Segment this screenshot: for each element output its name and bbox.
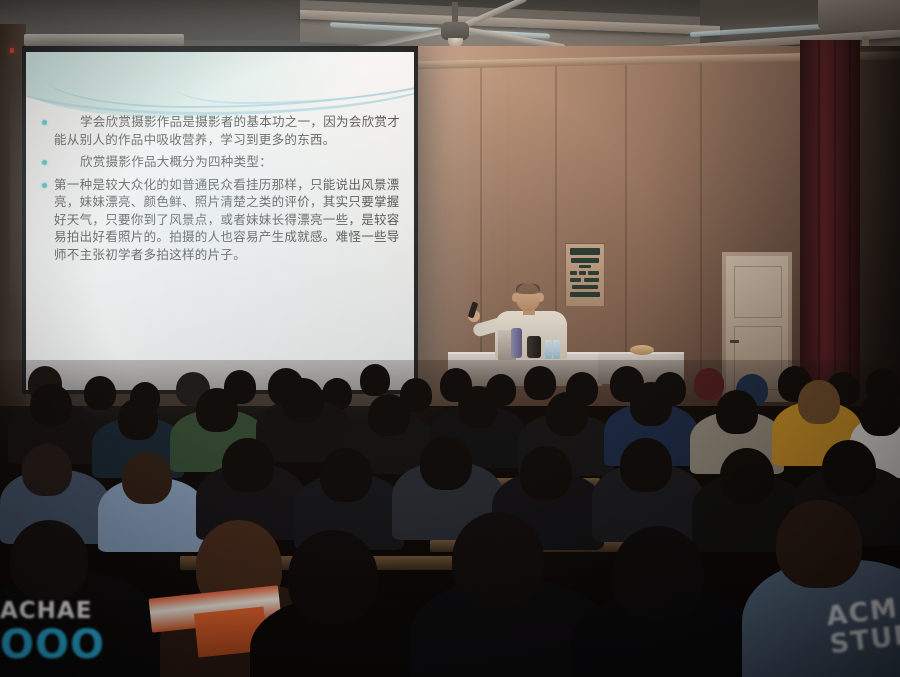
slide-bullet-text: 欣赏摄影作品大概分为四种类型： [54, 154, 272, 172]
audience-head [546, 392, 588, 436]
audience-head [716, 390, 758, 434]
curtain-fold [818, 40, 820, 400]
bullet-dot-icon [42, 183, 47, 188]
water-bottle-icon [553, 340, 560, 359]
window-curtain [800, 40, 860, 400]
audience-head [720, 448, 774, 504]
thermos-icon [511, 328, 522, 358]
audience-head [860, 392, 900, 436]
slide-bullet-text: 第一种是较大众化的如普通民众看挂历那样，只能说出风景漂亮，妹妹漂亮、颜色鲜、照片… [54, 177, 406, 265]
curtain-fold [834, 40, 836, 400]
presenter-hair [516, 283, 540, 294]
audience-head [620, 438, 672, 492]
tshirt-line-2: OOO [0, 625, 105, 665]
slide-content: 学会欣赏摄影作品是摄影者的基本功之一，因为会欣赏才能从别人的作品中吸收营养，学习… [40, 114, 406, 269]
tshirt-graphic-text: ACHAE OOO [0, 600, 105, 665]
audience-head [360, 364, 390, 396]
audience-head [458, 386, 498, 428]
audience-head [822, 440, 876, 496]
door-handle-icon[interactable] [730, 340, 739, 343]
audience-head [524, 366, 556, 400]
jacket-back-text: ACM STUD [825, 593, 900, 660]
audience-head [520, 446, 572, 500]
audience-head-front [776, 500, 862, 588]
projection-screen: 学会欣赏摄影作品是摄影者的基本功之一，因为会欣赏才能从别人的作品中吸收营养，学习… [26, 52, 414, 390]
slide-bullet-text: 学会欣赏摄影作品是摄影者的基本功之一，因为会欣赏才能从别人的作品中吸收营养，学习… [54, 114, 406, 149]
curtain-fold [849, 40, 851, 400]
bullet-dot-icon [42, 160, 47, 165]
audience-head [118, 398, 158, 440]
projector-screen-case [24, 34, 184, 46]
audience-head-red-cap [694, 368, 724, 400]
audience-head [196, 388, 238, 432]
audience-head [84, 376, 116, 410]
wall-seam [625, 60, 627, 390]
water-bottle-icon [545, 340, 552, 359]
ceiling-duct [818, 0, 900, 30]
audience-head [320, 448, 372, 502]
audience-head [282, 378, 324, 422]
notice-board [565, 243, 605, 307]
audience-head [630, 382, 672, 426]
slide-bullet-row: 学会欣赏摄影作品是摄影者的基本功之一，因为会欣赏才能从别人的作品中吸收营养，学习… [40, 114, 406, 149]
audience-head-front [10, 520, 88, 600]
audience-head-front [288, 530, 378, 624]
audience-head [30, 384, 72, 426]
audience-head [368, 394, 410, 436]
audience-head [122, 452, 172, 504]
ceiling-fan-rod [452, 2, 458, 24]
wall-seam [480, 60, 482, 390]
slide-bullet-row: 欣赏摄影作品大概分为四种类型： [40, 154, 406, 172]
indicator-led [10, 48, 14, 53]
tshirt-line-1: ACHAE [0, 600, 105, 623]
bullet-dot-icon [42, 120, 47, 125]
table-item [630, 345, 654, 355]
wall-seam [700, 60, 702, 390]
audience-head [798, 380, 840, 424]
lecture-hall-photo: 学会欣赏摄影作品是摄影者的基本功之一，因为会欣赏才能从别人的作品中吸收营养，学习… [0, 0, 900, 677]
travel-mug-icon [527, 336, 541, 358]
audience-head [22, 444, 72, 496]
audience-head [222, 438, 274, 492]
audience-head-front [612, 526, 704, 622]
slide-bullet-row: 第一种是较大众化的如普通民众看挂历那样，只能说出风景漂亮，妹妹漂亮、颜色鲜、照片… [40, 177, 406, 265]
audience-head-front [452, 512, 544, 608]
audience-head [420, 436, 472, 490]
